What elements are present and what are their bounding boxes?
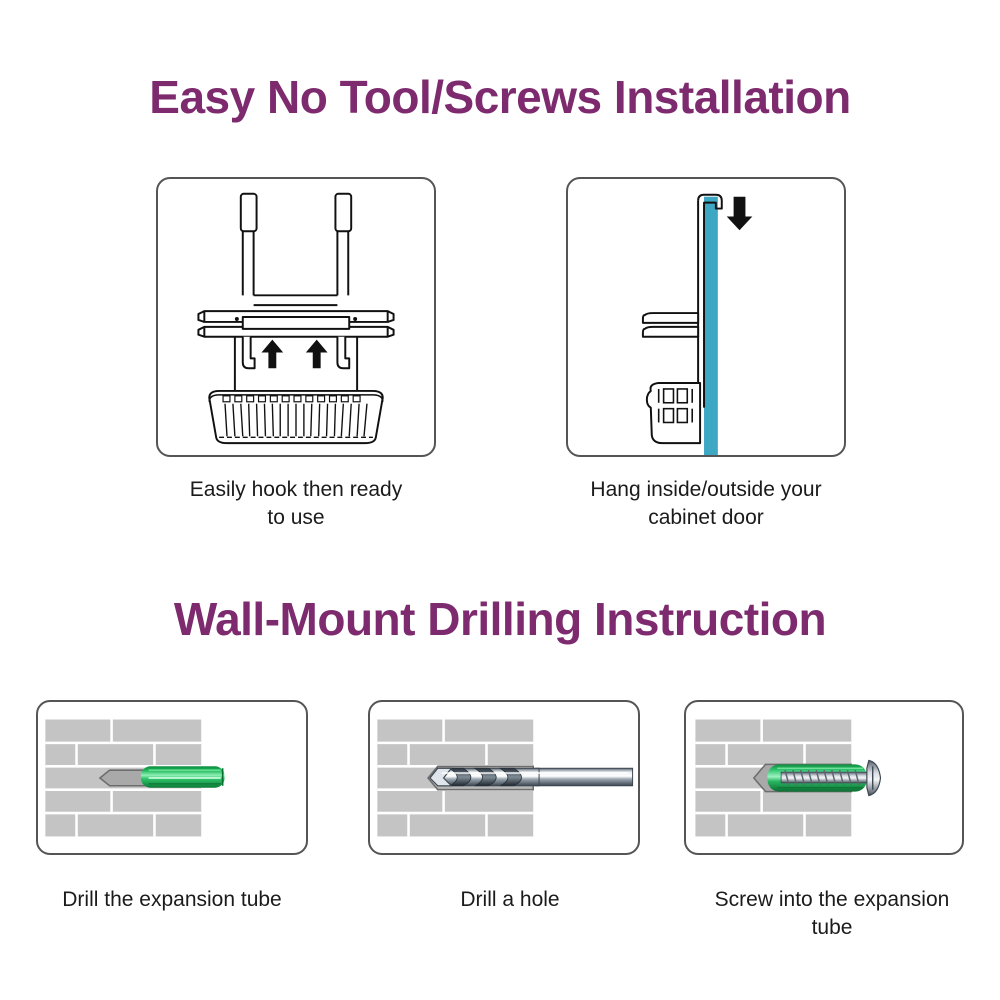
caption-hole-line-1: Drill a hole bbox=[380, 886, 640, 914]
caption-hook-line-1: Easily hook then ready bbox=[136, 476, 456, 504]
over-door-side-view-illustration bbox=[568, 179, 844, 455]
wire-basket bbox=[209, 391, 382, 443]
rail-rivet-left bbox=[235, 317, 239, 321]
section-title-easy-install: Easy No Tool/Screws Installation bbox=[0, 70, 1000, 124]
infographic-page: Easy No Tool/Screws Installation bbox=[0, 0, 1000, 1000]
cabinet-door-panel bbox=[704, 197, 718, 455]
masonry-drill-bit bbox=[430, 768, 633, 786]
caption-hook: Easily hook then ready to use bbox=[136, 476, 456, 531]
caption-screw: Screw into the expansion tube bbox=[672, 886, 992, 941]
caption-screw-line-2: tube bbox=[672, 914, 992, 942]
down-arrow bbox=[727, 197, 753, 231]
green-expansion-tube bbox=[141, 766, 225, 787]
brick-wall-expansion-tube-illustration bbox=[38, 702, 306, 853]
basket-side-profile bbox=[647, 383, 700, 443]
illustration-card-expansion-tube bbox=[36, 700, 308, 855]
illustration-card-door bbox=[566, 177, 846, 457]
brick-wall-drill-bit-illustration bbox=[370, 702, 638, 853]
illustration-card-hook bbox=[156, 177, 436, 457]
caption-door: Hang inside/outside your cabinet door bbox=[546, 476, 866, 531]
brick-wall-screw-in-tube-illustration bbox=[686, 702, 962, 853]
illustration-card-drill-hole bbox=[368, 700, 640, 855]
over-door-rack-front-view-illustration bbox=[158, 179, 434, 455]
rail-rivet-right bbox=[353, 317, 357, 321]
section-title-wall-mount: Wall-Mount Drilling Instruction bbox=[0, 592, 1000, 646]
caption-door-line-1: Hang inside/outside your bbox=[546, 476, 866, 504]
caption-door-line-2: cabinet door bbox=[546, 504, 866, 532]
up-arrow-right bbox=[306, 340, 328, 369]
caption-hook-line-2: to use bbox=[136, 504, 456, 532]
caption-expansion-tube: Drill the expansion tube bbox=[12, 886, 332, 914]
up-arrow-left bbox=[262, 340, 284, 369]
caption-tube-line-1: Drill the expansion tube bbox=[12, 886, 332, 914]
caption-drill-hole: Drill a hole bbox=[380, 886, 640, 914]
caption-screw-line-1: Screw into the expansion bbox=[672, 886, 992, 914]
illustration-card-screw bbox=[684, 700, 964, 855]
